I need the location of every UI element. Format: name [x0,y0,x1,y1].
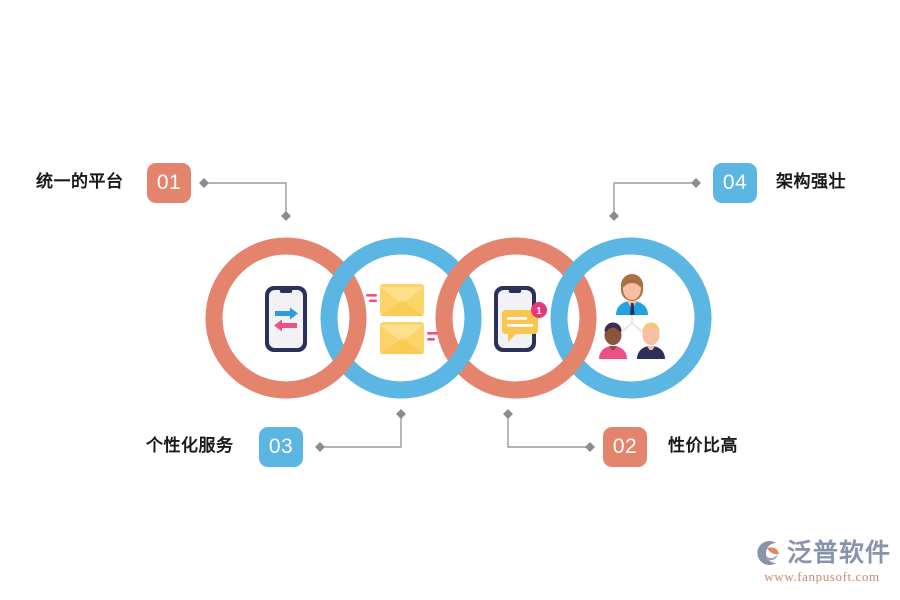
badge-01[interactable]: 01 [147,163,191,203]
notification-badge: 1 [531,302,547,318]
person-bottom-left [599,323,627,360]
speed-lines-left [366,294,377,302]
phone-message-icon: 1 [491,284,549,359]
badge-02[interactable]: 02 [603,427,647,467]
badge-03[interactable]: 03 [259,427,303,467]
people-group-icon [594,273,670,366]
person-bottom-right [637,323,665,360]
rings-layer [0,0,900,600]
label-text-03: 个性化服务 [146,437,234,454]
watermark: 泛普软件 www.fanpusoft.com [752,530,892,592]
label-text-01: 统一的平台 [36,173,124,190]
watermark-url: www.fanpusoft.com [764,570,880,583]
badge-04[interactable]: 04 [713,163,757,203]
infographic-canvas: 1 [0,0,900,600]
fanpu-logo-icon [753,539,783,567]
person-top [616,274,648,315]
label-text-02: 性价比高 [668,437,738,454]
label-text-04: 架构强壮 [776,173,846,190]
watermark-brand: 泛普软件 [787,541,891,566]
phone-transfer-icon [262,284,310,359]
speed-lines-right [427,332,438,341]
envelopes-icon [366,281,438,362]
notification-count: 1 [536,306,542,317]
